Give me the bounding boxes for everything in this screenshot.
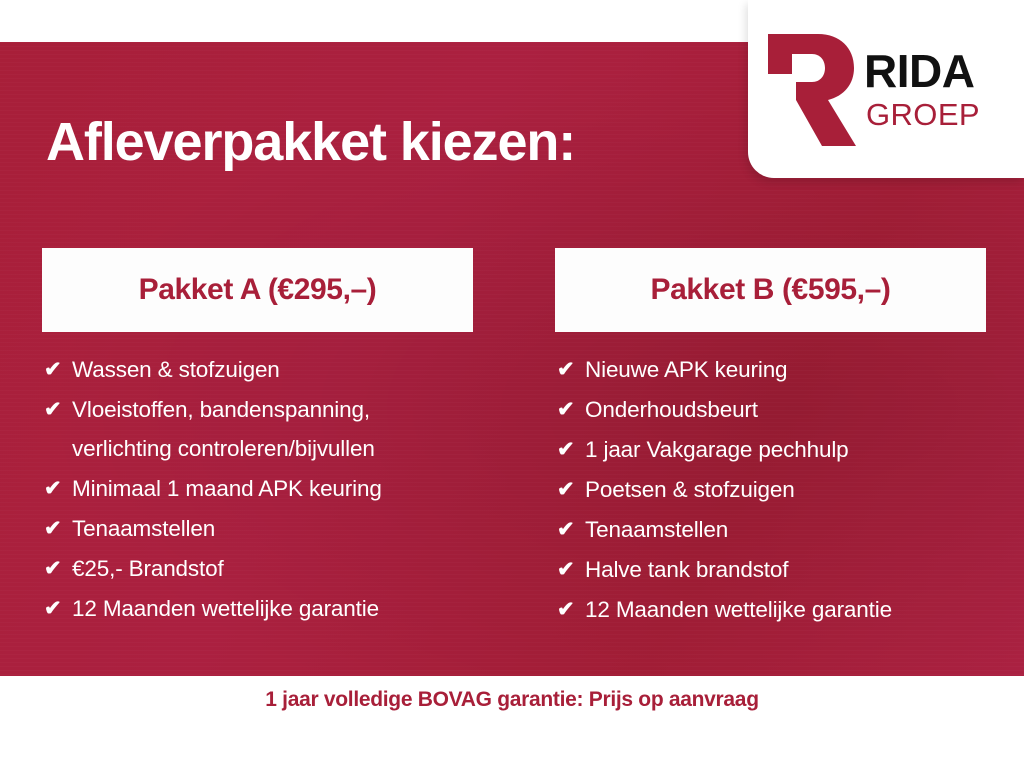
list-item: ✔ Tenaamstellen [42,509,473,548]
list-item: ✔ 12 Maanden wettelijke garantie [555,590,986,629]
logo-wordmark: RIDA GROEP [864,48,980,130]
feature-label: Minimaal 1 maand APK keuring [72,469,473,508]
package-b-feature-list: ✔ Nieuwe APK keuring ✔ Onderhoudsbeurt ✔… [555,350,986,629]
page-title: Afleverpakket kiezen: [46,114,746,171]
feature-label: Wassen & stofzuigen [72,350,473,389]
package-a-feature-list: ✔ Wassen & stofzuigen ✔ Vloeistoffen, ba… [42,350,473,628]
check-icon: ✔ [555,390,585,429]
logo-secondary-text: GROEP [866,99,980,130]
logo-primary-text: RIDA [864,48,980,94]
check-icon: ✔ [555,470,585,509]
footer-band: 1 jaar volledige BOVAG garantie: Prijs o… [0,676,1024,768]
list-item: ✔ Wassen & stofzuigen [42,350,473,389]
list-item: ✔ Poetsen & stofzuigen [555,470,986,509]
package-card-a[interactable]: Pakket A (€295,–) ✔ Wassen & stofzuigen … [42,248,473,629]
list-item: ✔ 12 Maanden wettelijke garantie [42,589,473,628]
list-item: ✔ Minimaal 1 maand APK keuring [42,469,473,508]
check-icon: ✔ [555,510,585,549]
feature-label: Halve tank brandstof [585,550,986,589]
package-a-title: Pakket A (€295,–) [139,273,377,307]
slide-root: Afleverpakket kiezen: RIDA GROEP Pakket … [0,0,1024,768]
package-a-header[interactable]: Pakket A (€295,–) [42,248,473,332]
list-item: ✔ Halve tank brandstof [555,550,986,589]
feature-label: €25,- Brandstof [72,549,473,588]
feature-label: 12 Maanden wettelijke garantie [72,589,473,628]
feature-label: Nieuwe APK keuring [585,350,986,389]
feature-label: Tenaamstellen [585,510,986,549]
feature-label: 12 Maanden wettelijke garantie [585,590,986,629]
feature-label: Onderhoudsbeurt [585,390,986,429]
list-item: ✔ 1 jaar Vakgarage pechhulp [555,430,986,469]
feature-label: 1 jaar Vakgarage pechhulp [585,430,986,469]
package-card-b[interactable]: Pakket B (€595,–) ✔ Nieuwe APK keuring ✔… [555,248,986,630]
list-item: ✔ Nieuwe APK keuring [555,350,986,389]
check-icon: ✔ [42,350,72,389]
feature-label: Tenaamstellen [72,509,473,548]
rida-r-monogram-icon [762,30,858,150]
check-icon: ✔ [42,390,72,429]
list-item: ✔ Onderhoudsbeurt [555,390,986,429]
check-icon: ✔ [42,589,72,628]
list-item: ✔ Vloeistoffen, bandenspanning, verlicht… [42,390,473,468]
footer-note: 1 jaar volledige BOVAG garantie: Prijs o… [265,688,758,712]
brand-logo: RIDA GROEP [748,0,1024,178]
check-icon: ✔ [42,509,72,548]
feature-label: Vloeistoffen, bandenspanning, verlichtin… [72,390,473,468]
package-b-title: Pakket B (€595,–) [650,273,890,307]
check-icon: ✔ [555,550,585,589]
list-item: ✔ €25,- Brandstof [42,549,473,588]
check-icon: ✔ [42,469,72,508]
list-item: ✔ Tenaamstellen [555,510,986,549]
check-icon: ✔ [42,549,72,588]
package-b-header[interactable]: Pakket B (€595,–) [555,248,986,332]
check-icon: ✔ [555,350,585,389]
check-icon: ✔ [555,590,585,629]
feature-label: Poetsen & stofzuigen [585,470,986,509]
check-icon: ✔ [555,430,585,469]
